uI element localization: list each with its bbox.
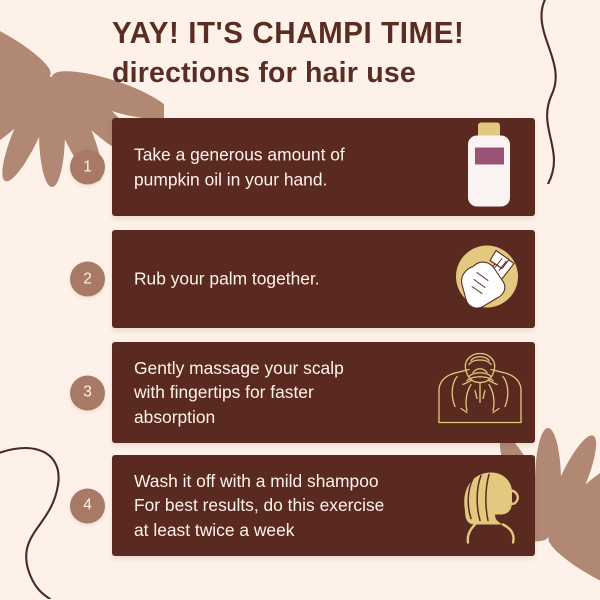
hair-profile-icon: [455, 462, 527, 549]
scalp-massage-icon: [433, 350, 527, 435]
step-number-badge: 1: [70, 150, 105, 185]
title-line-2: directions for hair use: [112, 57, 542, 90]
poster-canvas: YAY! IT'S CHAMPI TIME! directions for ha…: [0, 0, 600, 600]
rubbing-hands-icon: [447, 237, 527, 322]
title-line-1: YAY! IT'S CHAMPI TIME!: [112, 16, 542, 52]
step-card-3[interactable]: 3 Gently massage your scalp with fingert…: [112, 342, 535, 443]
page-title: YAY! IT'S CHAMPI TIME! directions for ha…: [112, 16, 542, 90]
step-text: Rub your palm together.: [134, 267, 430, 292]
oil-bottle-icon: [449, 119, 527, 216]
step-number-badge: 3: [70, 375, 105, 410]
step-card-2[interactable]: 2 Rub your palm together.: [112, 230, 535, 328]
step-text: Take a generous amount of pumpkin oil in…: [134, 142, 430, 191]
step-text: Wash it off with a mild shampoo For best…: [134, 468, 430, 542]
step-card-4[interactable]: 4 Wash it off with a mild shampoo For be…: [112, 455, 535, 556]
step-number-badge: 2: [70, 262, 105, 297]
step-card-1[interactable]: 1 Take a generous amount of pumpkin oil …: [112, 118, 535, 216]
step-number-badge: 4: [70, 488, 105, 523]
step-text: Gently massage your scalp with fingertip…: [134, 355, 430, 429]
